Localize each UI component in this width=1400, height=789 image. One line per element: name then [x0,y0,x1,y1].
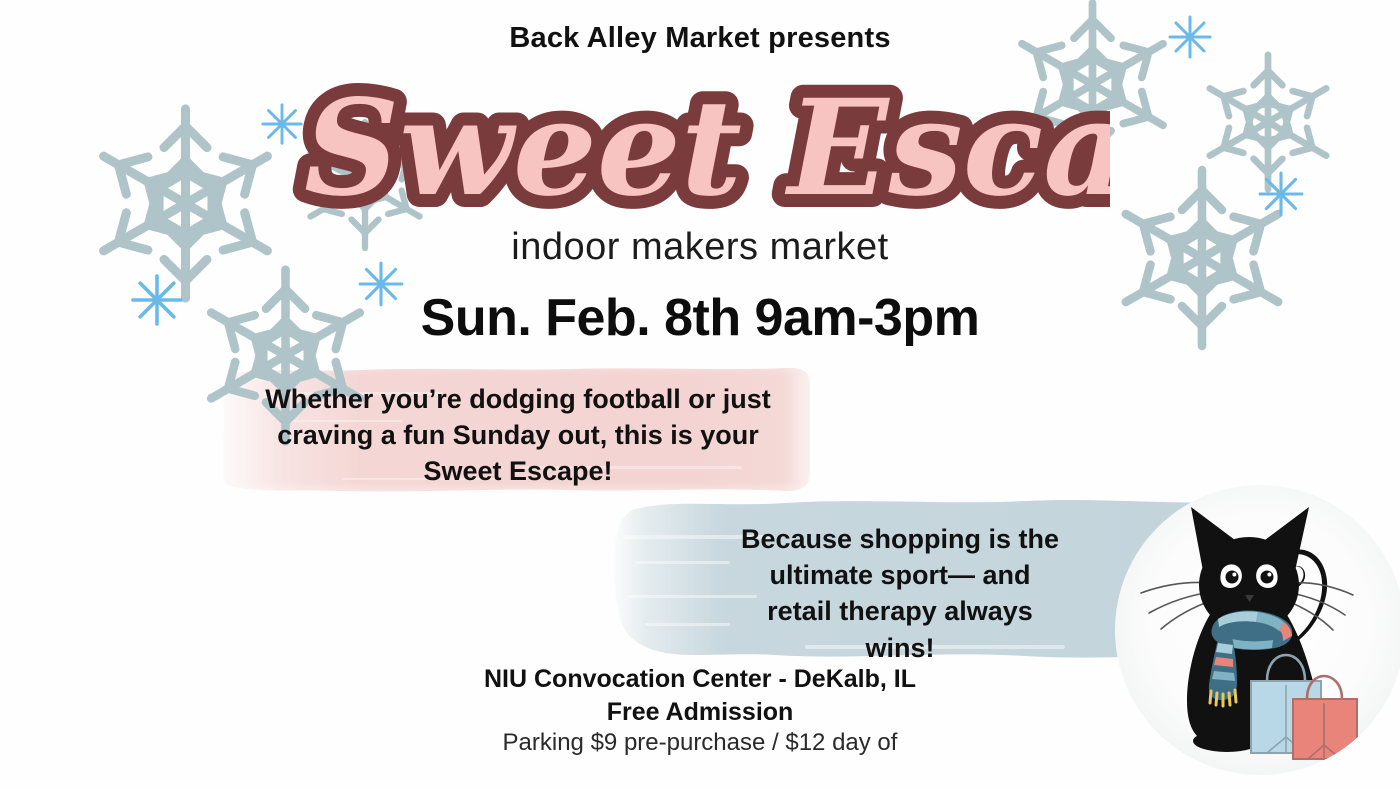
wordmark-fill: Sweet Escape [304,74,1110,226]
pink-banner-line-2: craving a fun Sunday out, this is your [258,417,778,453]
event-subtitle: indoor makers market [0,226,1400,269]
event-date-time: Sun. Feb. 8th 9am-3pm [0,288,1400,348]
blue-banner-line-2: ultimate sport— and [700,557,1100,593]
pink-banner-line-3: Sweet Escape! [258,453,778,489]
pink-banner-text: Whether you’re dodging football or just … [258,381,778,490]
pink-banner-line-1: Whether you’re dodging football or just [258,381,778,417]
presenter-line: Back Alley Market presents [0,22,1400,55]
flyer-canvas: Back Alley Market presents .wm-text { fo… [0,0,1400,789]
blue-banner-text: Because shopping is the ultimate sport— … [700,521,1100,666]
event-wordmark: .wm-text { font-family: "DejaVu Serif", … [0,74,1400,234]
blue-banner-line-4: wins! [700,630,1100,666]
blue-banner-line-3: retail therapy always [700,593,1100,629]
cat-illustration-badge [1115,485,1400,785]
blue-banner-line-1: Because shopping is the [700,521,1100,557]
